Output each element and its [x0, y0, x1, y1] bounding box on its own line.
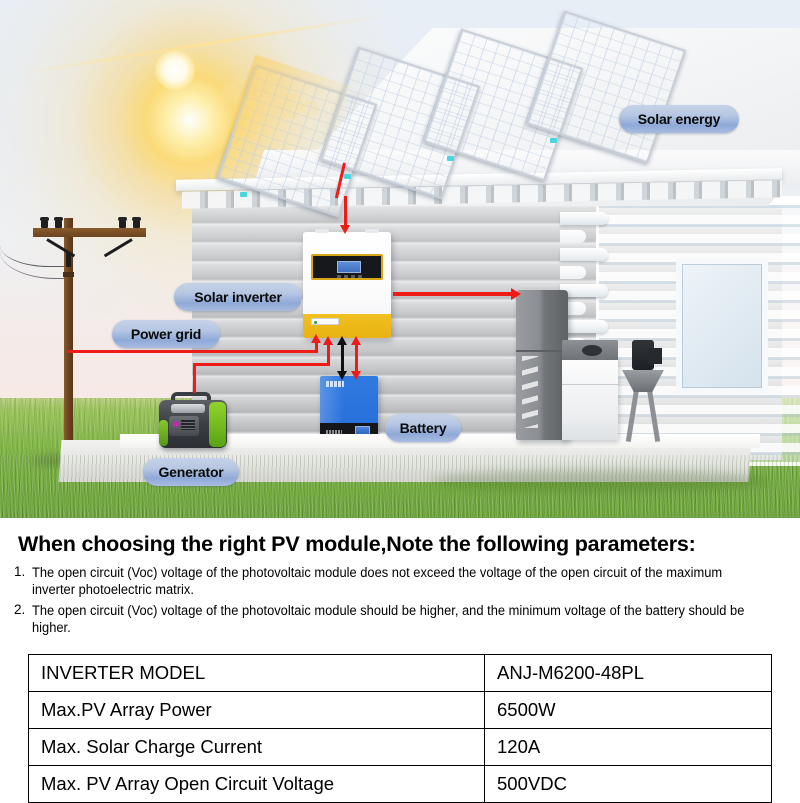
grass-shadow — [430, 470, 770, 492]
pole-band — [63, 272, 74, 277]
generator-flow-arrow — [323, 336, 333, 345]
spec-label: INVERTER MODEL — [29, 655, 485, 692]
label-power-grid[interactable]: Power grid — [112, 320, 220, 348]
grid-cable — [68, 350, 318, 353]
grid-flow-arrow — [311, 334, 321, 343]
label-text: Generator — [158, 464, 223, 480]
battery-logo — [326, 381, 344, 387]
note-number: 2. — [14, 602, 32, 636]
label-battery[interactable]: Battery — [385, 414, 461, 442]
load-cable — [393, 292, 515, 296]
note-text: The open circuit (Voc) voltage of the ph… — [32, 602, 755, 636]
battery-flow-arrow-up — [337, 336, 347, 345]
refrigerator-appliance — [516, 290, 568, 440]
load-flow-arrow — [511, 288, 521, 300]
generator-device — [157, 390, 229, 452]
spec-value: 500VDC — [485, 766, 772, 803]
generator-cable — [327, 345, 330, 365]
battery-return-arrow-up — [351, 336, 361, 345]
label-text: Solar energy — [638, 111, 720, 127]
battery-flow-arrow-down — [337, 371, 347, 380]
battery-cable — [341, 344, 344, 374]
washing-machine-appliance — [562, 358, 618, 440]
pv-flow-arrow — [340, 225, 350, 234]
generator-cable — [193, 363, 196, 393]
solar-panel-array — [236, 44, 636, 194]
table-row: Max.PV Array Power 6500W — [29, 692, 772, 729]
note-text: The open circuit (Voc) voltage of the ph… — [32, 564, 755, 598]
inverter-display-panel — [311, 254, 383, 280]
inverter-spec-table: INVERTER MODEL ANJ-M6200-48PL Max.PV Arr… — [28, 654, 772, 803]
inverter-lcd — [337, 261, 361, 273]
inverter-badge — [311, 318, 339, 325]
table-row: INVERTER MODEL ANJ-M6200-48PL — [29, 655, 772, 692]
pole-crossarm — [33, 228, 146, 237]
section-headline: When choosing the right PV module,Note t… — [18, 532, 696, 557]
label-text: Solar inverter — [194, 289, 281, 305]
sun-icon — [155, 50, 195, 90]
page-root: Solar energy Solar inverter Power grid G… — [0, 0, 800, 800]
solar-inverter-device — [303, 232, 391, 338]
floor-lamp-appliance — [620, 340, 666, 442]
spec-value: ANJ-M6200-48PL — [485, 655, 772, 692]
label-solar-inverter[interactable]: Solar inverter — [174, 283, 302, 311]
table-row: Max. Solar Charge Current 120A — [29, 729, 772, 766]
label-text: Battery — [400, 420, 447, 436]
note-item: 2. The open circuit (Voc) voltage of the… — [14, 602, 789, 636]
label-text: Power grid — [131, 326, 201, 342]
note-number: 1. — [14, 564, 32, 598]
spec-label: Max. Solar Charge Current — [29, 729, 485, 766]
spec-value: 120A — [485, 729, 772, 766]
pv-cable — [344, 196, 347, 228]
spec-label: Max. PV Array Open Circuit Voltage — [29, 766, 485, 803]
battery-return-arrow-down — [351, 371, 361, 380]
solar-system-illustration: Solar energy Solar inverter Power grid G… — [0, 0, 800, 518]
inverter-buttons — [337, 275, 363, 278]
label-generator[interactable]: Generator — [143, 458, 239, 486]
label-solar-energy[interactable]: Solar energy — [619, 105, 739, 133]
spec-label: Max.PV Array Power — [29, 692, 485, 729]
grid-cable — [315, 343, 318, 349]
spec-value: 6500W — [485, 692, 772, 729]
generator-cable — [195, 363, 330, 366]
specifications-section: When choosing the right PV module,Note t… — [0, 518, 800, 800]
notes-list: 1. The open circuit (Voc) voltage of the… — [14, 564, 789, 640]
note-item: 1. The open circuit (Voc) voltage of the… — [14, 564, 789, 598]
table-row: Max. PV Array Open Circuit Voltage 500VD… — [29, 766, 772, 803]
battery-return-cable — [355, 344, 358, 374]
house-window — [676, 258, 768, 394]
